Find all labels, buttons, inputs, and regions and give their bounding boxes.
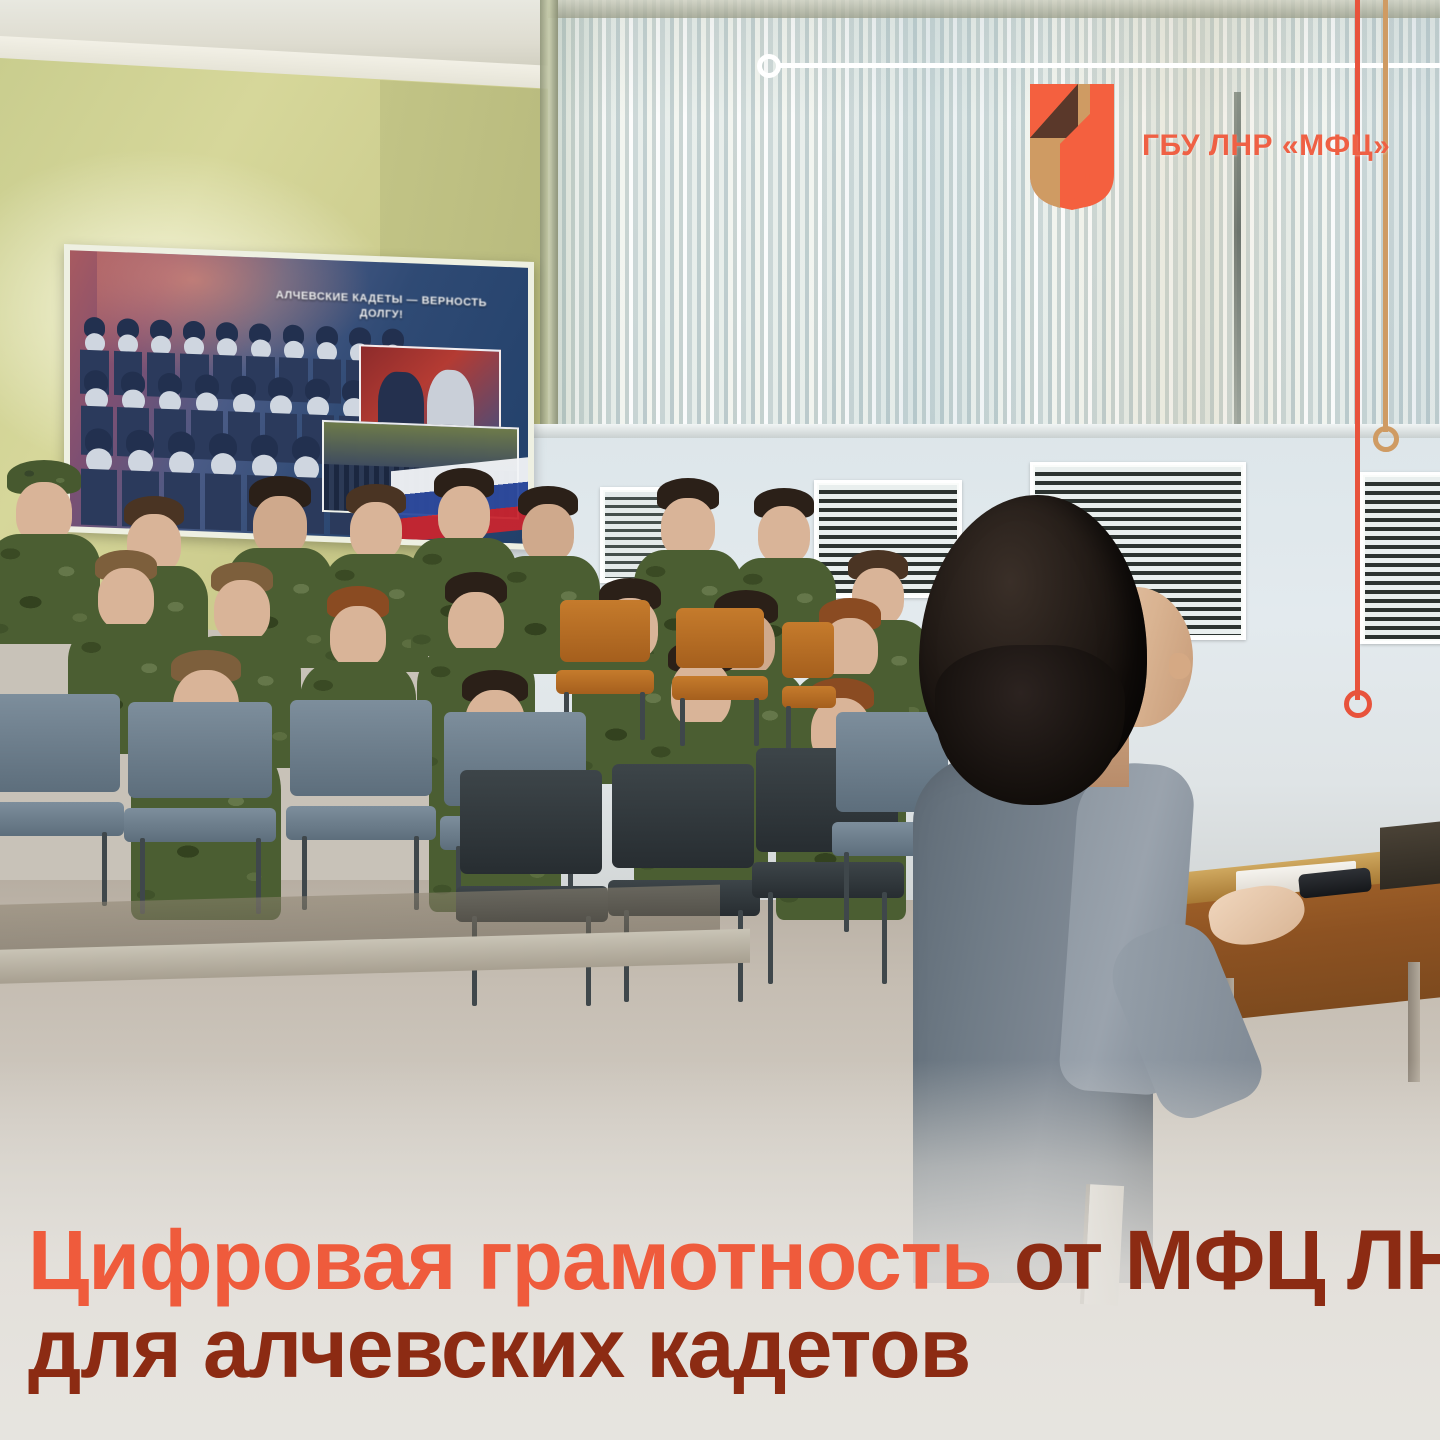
chair	[0, 694, 124, 904]
brand-logo: ГБУ ЛНР «МФЦ»	[1020, 82, 1390, 210]
chair	[124, 702, 276, 912]
white-ring-icon	[757, 54, 781, 78]
headline: Цифровая грамотность от МФЦ ЛНР для алче…	[28, 1216, 1428, 1392]
ventilation-grille	[1360, 472, 1440, 644]
wooden-chair	[672, 608, 768, 746]
white-rule	[780, 63, 1440, 68]
wall-ledge	[430, 424, 1440, 438]
speaker-nose	[1169, 653, 1191, 679]
brand-logo-text: ГБУ ЛНР «МФЦ»	[1142, 129, 1390, 163]
mfc-shield-icon	[1020, 82, 1124, 210]
chair	[286, 700, 436, 908]
headline-line1-accent: Цифровая грамотность	[28, 1213, 992, 1307]
wall-corner-trim	[540, 0, 558, 474]
tan-rule	[1383, 0, 1388, 432]
wooden-chair	[782, 622, 836, 742]
headline-line1-rest: от МФЦ ЛНР	[992, 1213, 1440, 1307]
tan-ring-icon	[1373, 426, 1399, 452]
headline-line2: для алчевских кадетов	[28, 1304, 1428, 1392]
vertical-blinds	[548, 0, 1440, 470]
red-ring-icon	[1344, 690, 1372, 718]
desk-object	[1380, 820, 1440, 890]
social-card: АЛЧЕВСКИЕ КАДЕТЫ — ВЕРНОСТЬ ДОЛГУ!	[0, 0, 1440, 1440]
blinds-rail	[548, 0, 1440, 18]
